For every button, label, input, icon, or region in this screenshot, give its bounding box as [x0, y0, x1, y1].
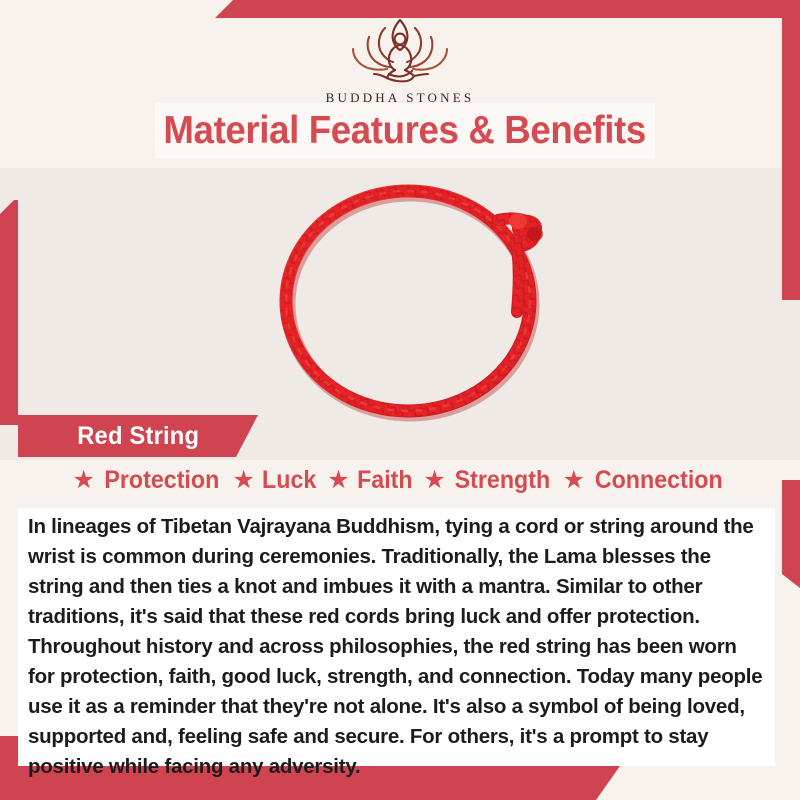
ribbon-label: Red String — [77, 422, 199, 451]
feature-badge-luck: ★ Luck — [233, 466, 319, 495]
description-paragraph: In lineages of Tibetan Vajrayana Buddhis… — [28, 512, 763, 782]
brand-logo-block: BUDDHA STONES — [0, 12, 800, 106]
section-ribbon-red-string: Red String — [18, 415, 258, 457]
feature-label: Protection — [104, 466, 219, 495]
title-banner: Material Features & Benefits — [155, 103, 655, 159]
product-image-red-string-bracelet — [230, 168, 600, 430]
feature-label: Faith — [357, 466, 413, 495]
feature-badge-row: ★ Protection ★ Luck ★ Faith ★ Strength ★… — [0, 466, 800, 495]
page-title: Material Features & Benefits — [164, 109, 647, 153]
star-icon: ★ — [233, 468, 255, 493]
accent-bar-bottom-left-edge — [0, 736, 18, 766]
description-card: In lineages of Tibetan Vajrayana Buddhis… — [18, 508, 775, 766]
feature-badge-faith: ★ Faith — [327, 466, 414, 495]
feature-badge-strength: ★ Strength — [423, 466, 553, 495]
star-icon: ★ — [563, 468, 585, 493]
lotus-meditation-icon — [341, 12, 459, 86]
accent-bar-right-lower — [782, 480, 800, 588]
feature-label: Connection — [595, 466, 723, 495]
feature-label: Luck — [262, 466, 316, 495]
star-icon: ★ — [327, 468, 349, 493]
product-info-poster: BUDDHA STONES Material Features & Benefi… — [0, 0, 800, 800]
feature-label: Strength — [454, 466, 550, 495]
star-icon: ★ — [72, 468, 94, 493]
feature-badge-protection: ★ Protection — [72, 466, 223, 495]
star-icon: ★ — [423, 468, 445, 493]
accent-bar-left — [0, 200, 18, 425]
feature-badge-connection: ★ Connection — [563, 466, 728, 495]
